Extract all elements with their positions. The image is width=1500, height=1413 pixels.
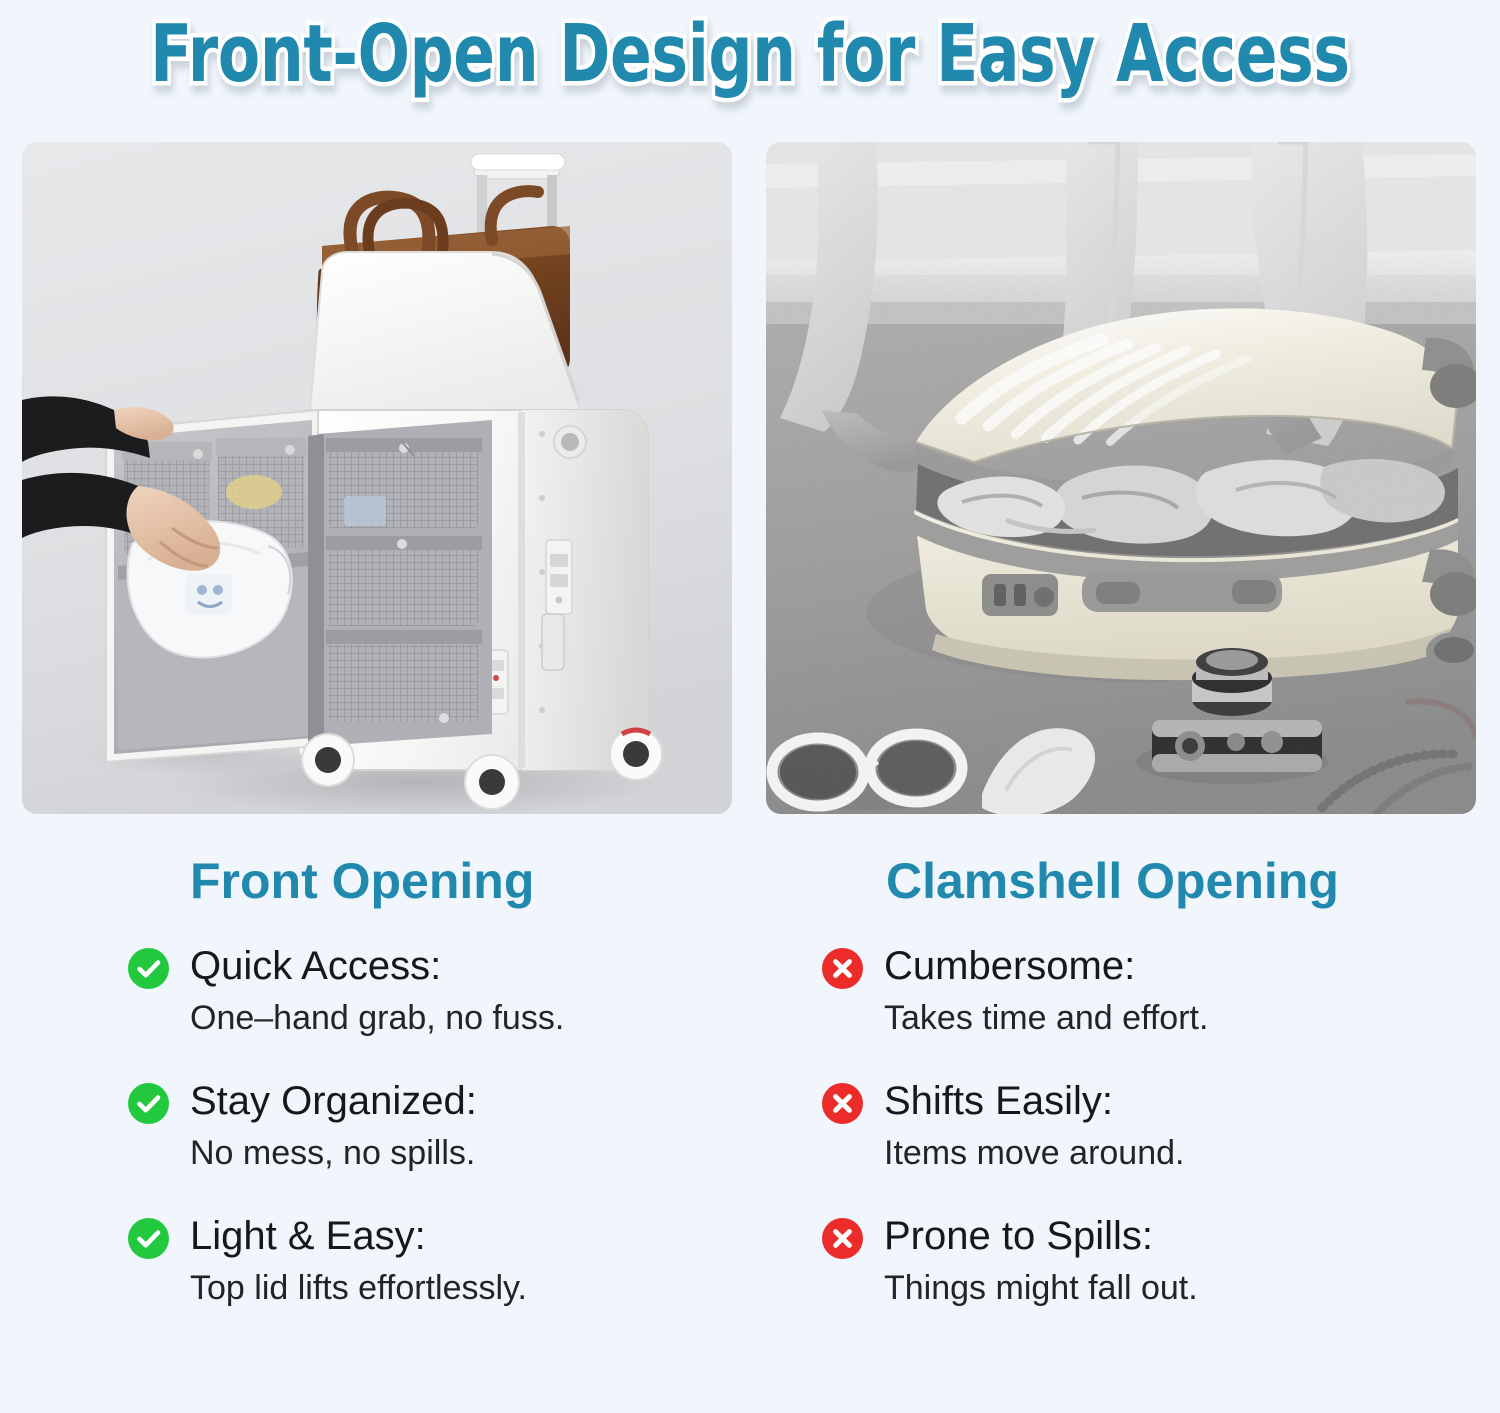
list-item: Prone to Spills: Things might fall out.: [822, 1210, 1462, 1345]
check-circle-icon: [128, 948, 169, 989]
cross-circle-icon: [822, 1083, 863, 1124]
list-item-title: Light & Easy:: [190, 1210, 768, 1262]
list-item-title: Cumbersome:: [884, 940, 1462, 992]
page-title: Front-Open Design for Easy Access: [150, 15, 1350, 94]
list-item-subtitle: Takes time and effort.: [884, 994, 1462, 1042]
list-item-subtitle: Things might fall out.: [884, 1264, 1462, 1312]
cross-circle-icon: [822, 1218, 863, 1259]
list-item: Shifts Easily: Items move around.: [822, 1075, 1462, 1210]
front-open-suitcase-photo: [22, 142, 732, 814]
list-item-subtitle: Top lid lifts effortlessly.: [190, 1264, 768, 1312]
list-item: Stay Organized: No mess, no spills.: [128, 1075, 768, 1210]
cross-circle-icon: [822, 948, 863, 989]
list-item: Light & Easy: Top lid lifts effortlessly…: [128, 1210, 768, 1345]
list-item-title: Prone to Spills:: [884, 1210, 1462, 1262]
list-item-title: Quick Access:: [190, 940, 768, 992]
list-item-subtitle: No mess, no spills.: [190, 1129, 768, 1177]
check-circle-icon: [128, 1218, 169, 1259]
list-item-title: Shifts Easily:: [884, 1075, 1462, 1127]
clamshell-opening-cons-list: Cumbersome: Takes time and effort. Shift…: [822, 940, 1462, 1345]
list-item: Cumbersome: Takes time and effort.: [822, 940, 1462, 1075]
column-headings: Front Opening Clamshell Opening: [0, 845, 1500, 917]
headline-banner: Front-Open Design for Easy Access: [0, 0, 1500, 108]
front-opening-pros-list: Quick Access: One–hand grab, no fuss. St…: [128, 940, 768, 1345]
clamshell-suitcase-photo: [766, 142, 1476, 814]
column-heading-clamshell-opening: Clamshell Opening: [886, 845, 1339, 917]
list-item-subtitle: Items move around.: [884, 1129, 1462, 1177]
list-item-title: Stay Organized:: [190, 1075, 768, 1127]
comparison-infographic: Front-Open Design for Easy Access: [0, 0, 1500, 1413]
benefit-comparison-lists: Quick Access: One–hand grab, no fuss. St…: [0, 940, 1500, 1360]
list-item-subtitle: One–hand grab, no fuss.: [190, 994, 768, 1042]
check-circle-icon: [128, 1083, 169, 1124]
list-item: Quick Access: One–hand grab, no fuss.: [128, 940, 768, 1075]
photo-row: [0, 142, 1500, 814]
column-heading-front-opening: Front Opening: [190, 845, 534, 917]
